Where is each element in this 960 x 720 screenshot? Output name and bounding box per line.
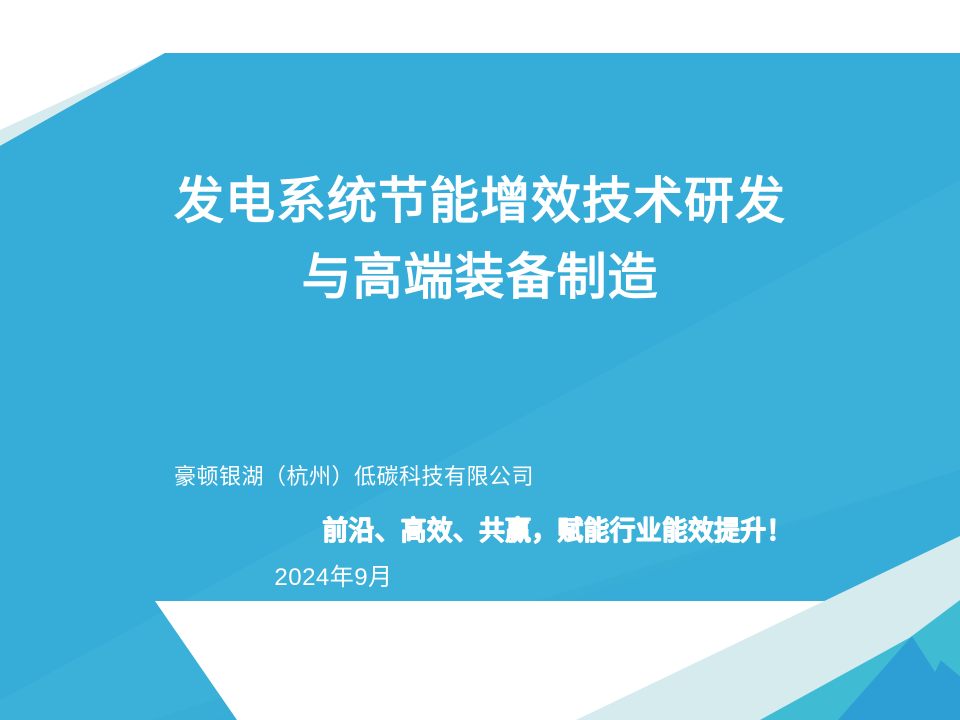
title-slide: 发电系统节能增效技术研发 与高端装备制造 豪顿银湖（杭州）低碳科技有限公司 前沿… [0,0,960,720]
slide-text-layer: 发电系统节能增效技术研发 与高端装备制造 豪顿银湖（杭州）低碳科技有限公司 前沿… [0,0,960,720]
slide-title-line-1: 发电系统节能增效技术研发 [0,176,960,226]
company-name: 豪顿银湖（杭州）低碳科技有限公司 [0,464,708,490]
company-slogan: 前沿、高效、共赢，赋能行业能效提升！ [28,515,960,547]
presentation-date: 2024年9月 [0,564,667,593]
slide-title-line-2: 与高端装备制造 [0,252,960,302]
